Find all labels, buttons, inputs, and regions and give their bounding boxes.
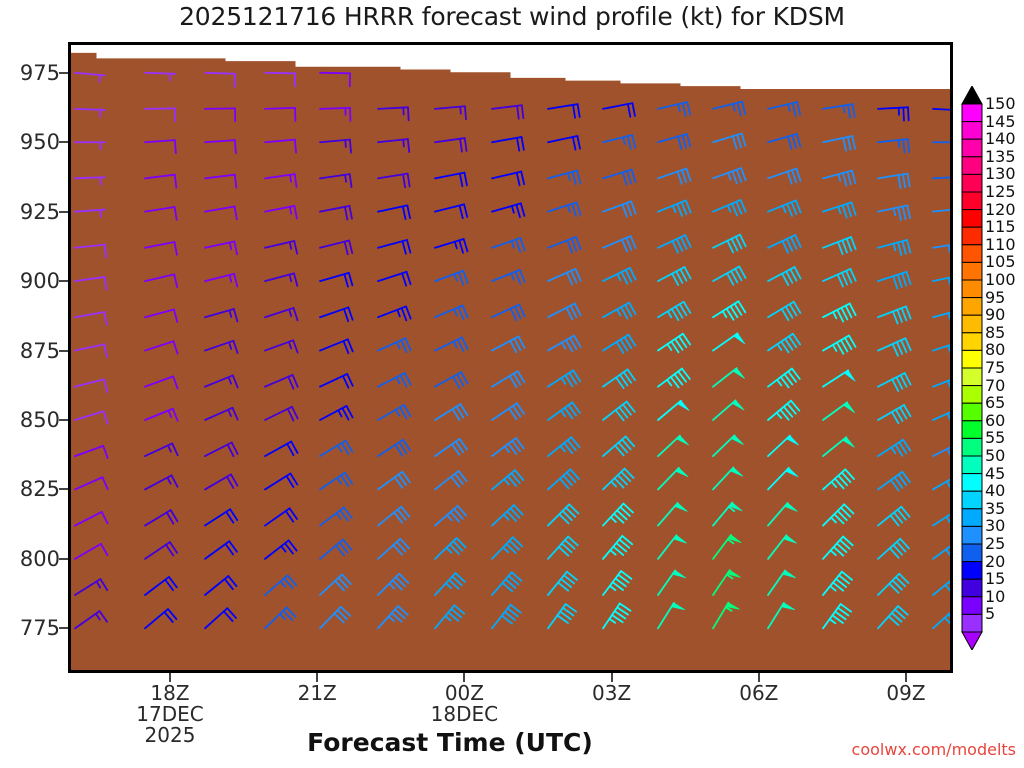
colorbar-tick-label: 25 [985,536,1005,552]
barb-half [843,106,844,113]
barb-staff [320,73,350,74]
barb-full [465,106,466,119]
colorbar-tick-label: 70 [985,378,1005,394]
colorbar-tick-label: 150 [985,96,1016,112]
barb-full [908,107,909,120]
colorbar-tick-label: 20 [985,554,1005,570]
x-axis-title: Forecast Time (UTC) [0,728,900,757]
x-axis-label-line: 09Z [851,683,961,704]
y-axis-tick [59,419,68,421]
colorbar-tick-label: 50 [985,448,1005,464]
y-axis-label: 900 [12,269,60,293]
x-axis-label: 21Z [262,683,372,704]
colorbar-swatch [962,157,982,175]
colorbar-tick-label: 125 [985,184,1016,200]
colorbar-swatch [962,350,982,368]
colorbar-swatch [962,104,982,122]
y-axis-label: 775 [12,616,60,640]
colorbar-swatch [962,122,982,140]
colorbar-tick-label: 5 [985,606,995,622]
colorbar-swatch [962,491,982,509]
colorbar-swatch [962,421,982,439]
colorbar-swatch [962,544,982,562]
colorbar-swatch [962,192,982,210]
colorbar-over-arrow [962,86,982,104]
credit-label: coolwx.com/modelts [852,740,1016,759]
colorbar-swatch [962,614,982,632]
colorbar-tick-label: 100 [985,272,1016,288]
plot-svg [71,45,950,670]
x-axis-label-line: 00Z [409,683,519,704]
y-axis-tick [59,141,68,143]
colorbar-under-arrow [962,632,982,650]
colorbar-swatch [962,526,982,544]
x-axis-label: 09Z [851,683,961,704]
x-axis-label-line: 17DEC [115,704,225,725]
barb-full [175,140,176,153]
barb-full [235,140,236,153]
colorbar-tick-label: 85 [985,325,1005,341]
colorbar-swatch [962,579,982,597]
colorbar-swatch [962,262,982,280]
y-axis-tick [59,627,68,629]
colorbar-svg [961,86,983,650]
wind-profile-figure: 2025121716 HRRR forecast wind profile (k… [0,0,1024,768]
colorbar-tick-label: 30 [985,518,1005,534]
barb-staff [205,73,235,74]
x-axis-label: 06Z [704,683,814,704]
colorbar-swatch [962,174,982,192]
barb-half [345,175,346,182]
colorbar-tick-label: 145 [985,114,1016,130]
colorbar-tick-label: 105 [985,254,1016,270]
colorbar-tick-label: 15 [985,571,1005,587]
y-axis-label: 950 [12,130,60,154]
colorbar-swatch [962,298,982,316]
colorbar-tick-label: 80 [985,342,1005,358]
barb-staff [265,73,295,74]
y-axis-tick [59,488,68,490]
x-axis-label-line: 18DEC [409,704,519,725]
colorbar-swatch [962,456,982,474]
colorbar-swatch [962,509,982,527]
y-axis-label: 800 [12,547,60,571]
y-axis-tick [59,558,68,560]
barb-staff [205,108,235,109]
barb-full [903,108,904,121]
y-axis-label: 825 [12,477,60,501]
colorbar-tick-label: 65 [985,395,1005,411]
colorbar-tick-label: 60 [985,413,1005,429]
barb-half [403,140,404,147]
plot-area [68,42,953,673]
barb-full [408,107,409,120]
barb-half [345,140,346,147]
y-axis-label: 875 [12,339,60,363]
y-axis-label: 925 [12,200,60,224]
barb-half [949,245,950,252]
barb-half [899,140,900,147]
x-axis-label-line: 21Z [262,683,372,704]
barb-full [350,140,351,153]
colorbar-tick-label: 40 [985,483,1005,499]
y-axis-tick [59,280,68,282]
colorbar-tick-label: 115 [985,219,1016,235]
colorbar-tick-label: 95 [985,290,1005,306]
colorbar-swatch [962,438,982,456]
colorbar [961,86,983,654]
colorbar-tick-label: 75 [985,360,1005,376]
colorbar-tick-label: 35 [985,501,1005,517]
colorbar-swatch [962,597,982,615]
colorbar-swatch [962,210,982,228]
barb-staff [265,108,295,109]
y-axis-tick [59,211,68,213]
colorbar-tick-label: 130 [985,166,1016,182]
colorbar-swatch [962,562,982,580]
x-axis-label: 00Z18DEC [409,683,519,725]
y-axis-label: 975 [12,61,60,85]
colorbar-swatch [962,245,982,263]
x-axis-label-line: 03Z [557,683,667,704]
colorbar-swatch [962,333,982,351]
colorbar-swatch [962,386,982,404]
colorbar-swatch [962,139,982,157]
colorbar-tick-label: 45 [985,466,1005,482]
colorbar-tick-label: 140 [985,131,1016,147]
colorbar-tick-label: 110 [985,237,1016,253]
barb-half [100,75,101,82]
colorbar-swatch [962,315,982,333]
colorbar-swatch [962,403,982,421]
page-title: 2025121716 HRRR forecast wind profile (k… [0,2,1024,31]
barb-half [460,107,461,114]
colorbar-swatch [962,474,982,492]
colorbar-swatch [962,227,982,245]
colorbar-tick-label: 120 [985,202,1016,218]
barb-staff [145,108,175,109]
y-axis-tick [59,350,68,352]
barb-full [295,140,296,153]
x-axis-label-line: 06Z [704,683,814,704]
barb-half [290,175,291,182]
y-axis-label: 850 [12,408,60,432]
colorbar-tick-label: 135 [985,149,1016,165]
colorbar-tick-label: 10 [985,589,1005,605]
colorbar-swatch [962,280,982,298]
y-axis-tick [59,72,68,74]
x-axis-label-line: 18Z [115,683,225,704]
colorbar-swatch [962,368,982,386]
colorbar-tick-label: 90 [985,307,1005,323]
colorbar-tick-label: 55 [985,430,1005,446]
x-axis-label: 03Z [557,683,667,704]
